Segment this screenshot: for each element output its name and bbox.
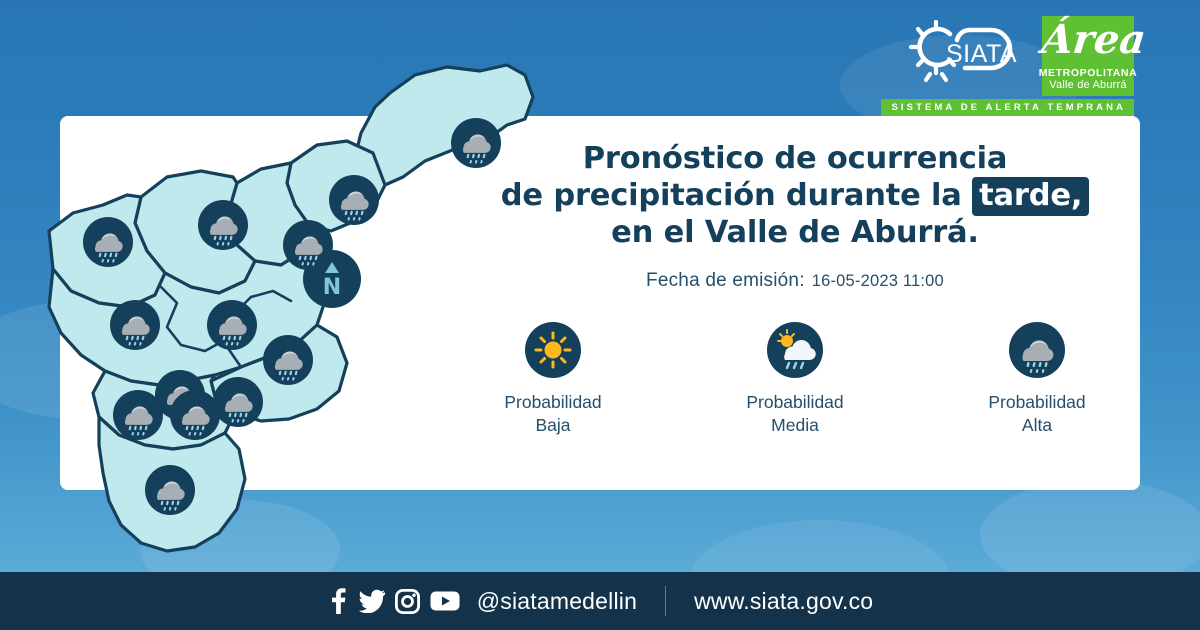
youtube-icon[interactable] bbox=[430, 590, 460, 612]
social-icons bbox=[327, 588, 460, 614]
website-url[interactable]: www.siata.gov.co bbox=[694, 588, 873, 615]
headline-line-3: en el Valle de Aburrá. bbox=[501, 214, 1089, 251]
forecast-panel: Pronóstico de ocurrencia de precipitació… bbox=[470, 140, 1120, 470]
footer-bar: @siatamedellin www.siata.gov.co bbox=[0, 572, 1200, 630]
instagram-icon[interactable] bbox=[395, 589, 420, 614]
siata-logo: SIATA bbox=[906, 16, 1034, 92]
header-logos: SIATA Área METROPOLITANA Valle de Aburrá… bbox=[881, 16, 1134, 116]
marker-amaga bbox=[145, 465, 195, 515]
cloud-rain-icon bbox=[110, 300, 160, 350]
legend-item-alta: Probabilidad Alta bbox=[962, 322, 1112, 437]
legend-label-media: Probabilidad Media bbox=[746, 391, 843, 437]
marker-medellin bbox=[207, 300, 257, 350]
siata-wordmark: SIATA bbox=[946, 40, 1017, 69]
marker-girardota bbox=[329, 175, 379, 225]
area-metropolitana-logo: Área METROPOLITANA Valle de Aburrá bbox=[1042, 16, 1134, 96]
cloud-rain-icon bbox=[198, 200, 248, 250]
cloud-rain-icon bbox=[263, 335, 313, 385]
marker-bello bbox=[198, 200, 248, 250]
poster-root: SIATA Área METROPOLITANA Valle de Aburrá… bbox=[0, 0, 1200, 630]
headline-highlight-tarde: tarde, bbox=[972, 177, 1089, 216]
cloud-rain-icon bbox=[113, 390, 163, 440]
cloud-rain-icon bbox=[83, 217, 133, 267]
cloud-rain-icon bbox=[207, 300, 257, 350]
legend-label-baja: Probabilidad Baja bbox=[504, 391, 601, 437]
marker-la-estrella bbox=[113, 390, 163, 440]
social-handle[interactable]: @siatamedellin bbox=[477, 588, 637, 615]
footer-divider bbox=[665, 586, 666, 616]
legend-label-media-line2: Media bbox=[771, 415, 819, 435]
marker-san-jeronimo bbox=[83, 217, 133, 267]
headline-line-2: de precipitación durante la tarde, bbox=[501, 177, 1089, 214]
siata-tagline: SISTEMA DE ALERTA TEMPRANA bbox=[881, 99, 1134, 116]
legend-item-baja: Probabilidad Baja bbox=[478, 322, 628, 437]
headline-line-2-text: de precipitación durante la bbox=[501, 178, 962, 213]
emission-value: 16-05-2023 11:00 bbox=[812, 272, 944, 291]
headline-line-1: Pronóstico de ocurrencia bbox=[501, 140, 1089, 177]
cloud-rain-icon bbox=[283, 220, 333, 270]
area-line-metropolitana: METROPOLITANA bbox=[1039, 68, 1138, 79]
sun-cloud-rain-icon bbox=[767, 322, 823, 378]
logos-row: SIATA Área METROPOLITANA Valle de Aburrá bbox=[906, 16, 1134, 96]
cloud-rain-icon bbox=[1009, 322, 1065, 378]
facebook-icon[interactable] bbox=[327, 588, 349, 614]
area-script-wordmark: Área bbox=[1040, 19, 1136, 61]
cloud-rain-icon bbox=[213, 377, 263, 427]
marker-envigado bbox=[263, 335, 313, 385]
area-line-valle-de-aburra: Valle de Aburrá bbox=[1049, 79, 1126, 91]
cloud-rain-icon bbox=[145, 465, 195, 515]
legend-label-baja-line1: Probabilidad bbox=[504, 392, 601, 412]
twitter-icon[interactable] bbox=[359, 589, 385, 613]
sun-icon bbox=[525, 322, 581, 378]
legend-label-alta-line1: Probabilidad bbox=[988, 392, 1085, 412]
probability-legend: Probabilidad Baja bbox=[470, 322, 1120, 437]
legend-label-media-line1: Probabilidad bbox=[746, 392, 843, 412]
cloud-rain-icon bbox=[329, 175, 379, 225]
marker-angelopolis bbox=[213, 377, 263, 427]
legend-item-media: Probabilidad Media bbox=[720, 322, 870, 437]
headline: Pronóstico de ocurrencia de precipitació… bbox=[501, 140, 1089, 251]
legend-label-baja-line2: Baja bbox=[535, 415, 570, 435]
legend-label-alta-line2: Alta bbox=[1022, 415, 1052, 435]
legend-label-alta: Probabilidad Alta bbox=[988, 391, 1085, 437]
marker-copacabana bbox=[283, 220, 333, 270]
emission-date: Fecha de emisión: 16-05-2023 11:00 bbox=[646, 270, 944, 292]
emission-label: Fecha de emisión: bbox=[646, 270, 805, 292]
marker-itagui bbox=[110, 300, 160, 350]
svg-text:N: N bbox=[323, 275, 341, 300]
